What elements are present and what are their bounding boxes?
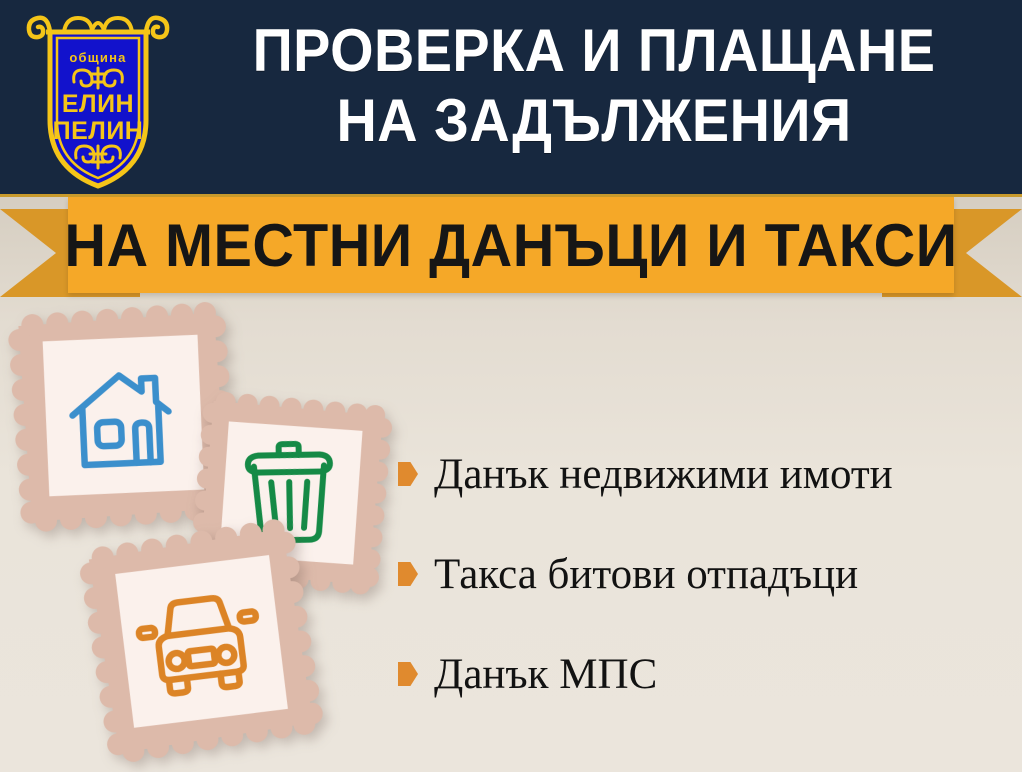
crest-name-line1: ЕЛИН (62, 90, 134, 118)
bullet-arrow-icon (398, 562, 418, 586)
subtitle-ribbon: НА МЕСТНИ ДАНЪЦИ И ТАКСИ (0, 197, 1022, 297)
list-item[interactable]: Данък МПС (398, 624, 1008, 724)
stamp-paper (115, 555, 288, 728)
tax-type-list: Данък недвижими имоти Такса битови отпад… (398, 424, 1008, 724)
poster-root: община ЕЛИН ПЕЛИН ПРОВЕРКА И ПЛАЩАН (0, 0, 1022, 772)
list-item-label: Такса битови отпадъци (434, 553, 858, 596)
stamp-illustrations (0, 300, 430, 772)
stamp-paper (43, 335, 205, 497)
stamp-card-vehicle (76, 516, 325, 765)
list-item[interactable]: Такса битови отпадъци (398, 524, 1008, 624)
header-banner: община ЕЛИН ПЕЛИН ПРОВЕРКА И ПЛАЩАН (0, 0, 1022, 197)
crest-name-line2: ПЕЛИН (53, 117, 144, 145)
list-item-label: Данък МПС (434, 653, 657, 696)
municipality-crest-logo: община ЕЛИН ПЕЛИН (24, 8, 172, 192)
page-title: ПРОВЕРКА И ПЛАЩАНЕ НА ЗАДЪЛЖЕНИЯ (209, 16, 979, 155)
list-item[interactable]: Данък недвижими имоти (398, 424, 1008, 524)
bullet-arrow-icon (398, 662, 418, 686)
crest-icon: община ЕЛИН ПЕЛИН (24, 8, 172, 192)
crest-municipality-word: община (69, 50, 126, 65)
list-item-label: Данък недвижими имоти (434, 453, 893, 496)
ribbon-label: НА МЕСТНИ ДАНЪЦИ И ТАКСИ (86, 197, 937, 293)
bullet-arrow-icon (398, 462, 418, 486)
